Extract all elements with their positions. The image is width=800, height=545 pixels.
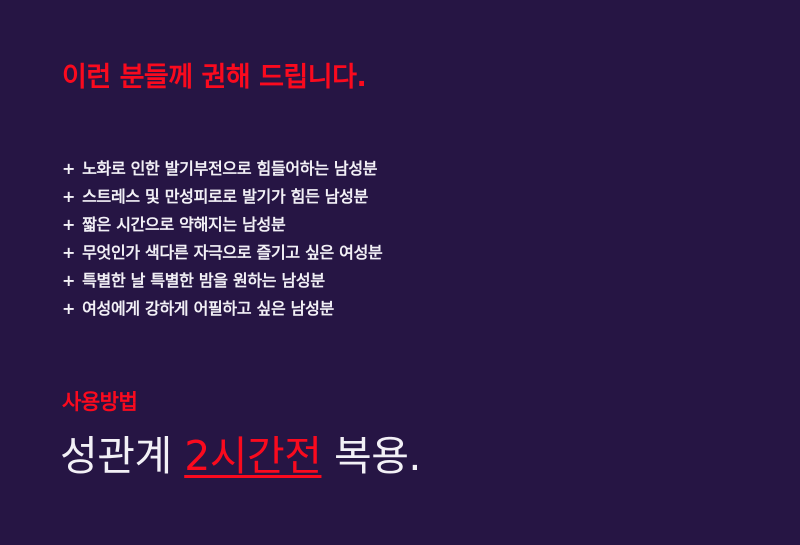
list-item-label: 스트레스 및 만성피로로 발기가 힘든 남성분 [82, 183, 368, 211]
list-item: + 짧은 시간으로 약해지는 남성분 [62, 211, 382, 239]
plus-icon: + [62, 155, 75, 183]
promo-slide: 이런 분들께 권해 드립니다. + 노화로 인한 발기부전으로 힘들어하는 남성… [0, 0, 800, 545]
page-title: 이런 분들께 권해 드립니다. [62, 62, 366, 94]
list-item-label: 여성에게 강하게 어필하고 싶은 남성분 [82, 295, 334, 323]
list-item-label: 짧은 시간으로 약해지는 남성분 [82, 211, 285, 239]
usage-instruction-prefix: 성관계 [60, 432, 184, 480]
list-item-label: 특별한 날 특별한 밤을 원하는 남성분 [82, 267, 325, 295]
plus-icon: + [62, 295, 75, 323]
list-item: + 특별한 날 특별한 밤을 원하는 남성분 [62, 267, 382, 295]
plus-icon: + [62, 267, 75, 295]
benefit-list: + 노화로 인한 발기부전으로 힘들어하는 남성분 + 스트레스 및 만성피로로… [62, 155, 382, 323]
list-item: + 스트레스 및 만성피로로 발기가 힘든 남성분 [62, 183, 382, 211]
plus-icon: + [62, 183, 75, 211]
list-item-label: 무엇인가 색다른 자극으로 즐기고 싶은 여성분 [82, 239, 382, 267]
list-item: + 노화로 인한 발기부전으로 힘들어하는 남성분 [62, 155, 382, 183]
list-item: + 여성에게 강하게 어필하고 싶은 남성분 [62, 295, 382, 323]
list-item-label: 노화로 인한 발기부전으로 힘들어하는 남성분 [82, 155, 377, 183]
plus-icon: + [62, 239, 75, 267]
usage-instruction: 성관계 2시간전 복용. [60, 432, 421, 481]
plus-icon: + [62, 211, 75, 239]
usage-instruction-highlight: 2시간전 [184, 432, 321, 480]
list-item: + 무엇인가 색다른 자극으로 즐기고 싶은 여성분 [62, 239, 382, 267]
usage-instruction-suffix: 복용. [321, 432, 421, 480]
usage-section-title: 사용방법 [62, 390, 137, 415]
